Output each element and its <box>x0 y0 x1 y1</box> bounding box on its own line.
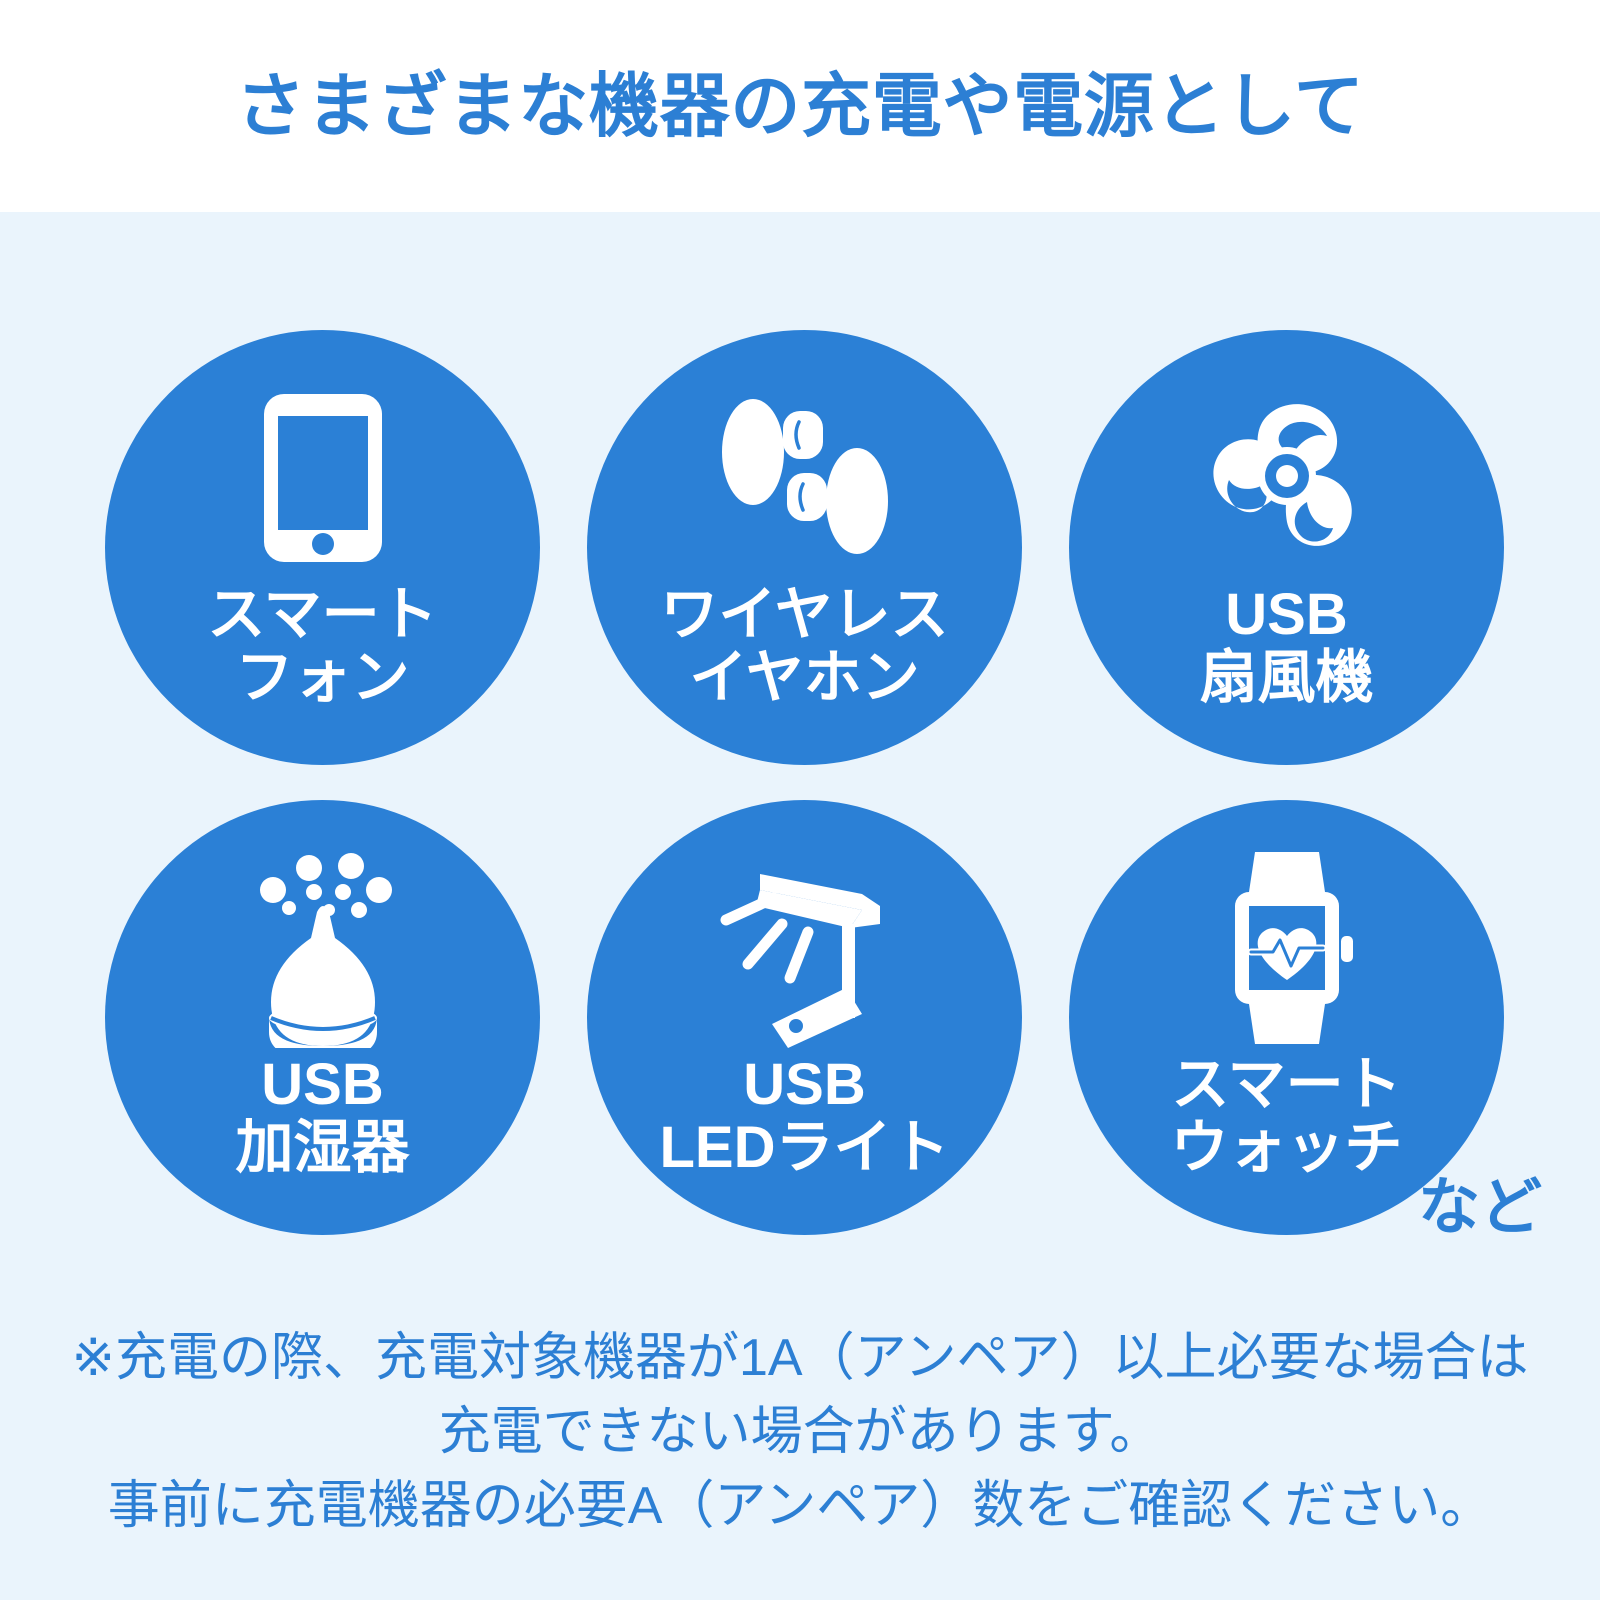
header-band: さまざまな機器の充電や電源として <box>0 0 1600 212</box>
smartwatch-icon <box>1211 848 1363 1048</box>
device-label-line: USB <box>235 1054 409 1117</box>
footnote-line: 充電できない場合があります。 <box>0 1396 1600 1470</box>
device-label-usb-led-light: USB LEDライト <box>659 1054 949 1179</box>
footnote-line: ※充電の際、充電対象機器が1A（アンペア）以上必要な場合は <box>0 1322 1600 1396</box>
device-circle-usb-fan[interactable]: USB 扇風機 <box>1069 330 1504 765</box>
device-label-line: LEDライト <box>659 1117 949 1180</box>
wireless-earbuds-icon <box>710 378 900 578</box>
smartphone-icon <box>262 378 384 578</box>
device-label-smartwatch: スマート ウォッチ <box>1170 1054 1402 1179</box>
device-circle-smartphone[interactable]: スマート フォン <box>105 330 540 765</box>
device-circle-smartwatch[interactable]: スマート ウォッチ <box>1069 800 1504 1235</box>
device-label-line: USB <box>1199 584 1373 647</box>
device-label-line: スマート <box>207 584 437 647</box>
device-label-line: フォン <box>207 647 437 710</box>
etc-note: など <box>1418 1177 1542 1239</box>
device-circle-grid: スマート フォン <box>105 330 1505 1235</box>
infographic-page: さまざまな機器の充電や電源として スマート フォン <box>0 0 1600 1600</box>
device-circle-usb-humidifier[interactable]: USB 加湿器 <box>105 800 540 1235</box>
footnote-line: 事前に充電機器の必要A（アンペア）数をご確認ください。 <box>0 1470 1600 1544</box>
device-label-line: 加湿器 <box>235 1117 409 1180</box>
humidifier-icon <box>239 848 407 1048</box>
device-label-line: イヤホン <box>660 647 948 710</box>
device-label-wireless-earphones: ワイヤレス イヤホン <box>660 584 948 709</box>
device-label-smartphone: スマート フォン <box>207 584 437 709</box>
device-circle-usb-led-light[interactable]: USB LEDライト <box>587 800 1022 1235</box>
page-title: さまざまな機器の充電や電源として <box>235 71 1364 141</box>
device-label-line: ウォッチ <box>1170 1117 1402 1180</box>
desk-lamp-icon <box>712 848 897 1048</box>
device-label-line: 扇風機 <box>1199 647 1373 710</box>
device-label-line: スマート <box>1170 1054 1402 1117</box>
device-label-usb-fan: USB 扇風機 <box>1199 584 1373 709</box>
device-label-line: USB <box>659 1054 949 1117</box>
fan-blade-icon <box>1197 378 1377 578</box>
device-label-usb-humidifier: USB 加湿器 <box>235 1054 409 1179</box>
footnote: ※充電の際、充電対象機器が1A（アンペア）以上必要な場合は 充電できない場合があ… <box>0 1322 1600 1543</box>
device-panel: スマート フォン <box>0 212 1600 1600</box>
device-label-line: ワイヤレス <box>660 584 948 647</box>
device-circle-wireless-earphones[interactable]: ワイヤレス イヤホン <box>587 330 1022 765</box>
